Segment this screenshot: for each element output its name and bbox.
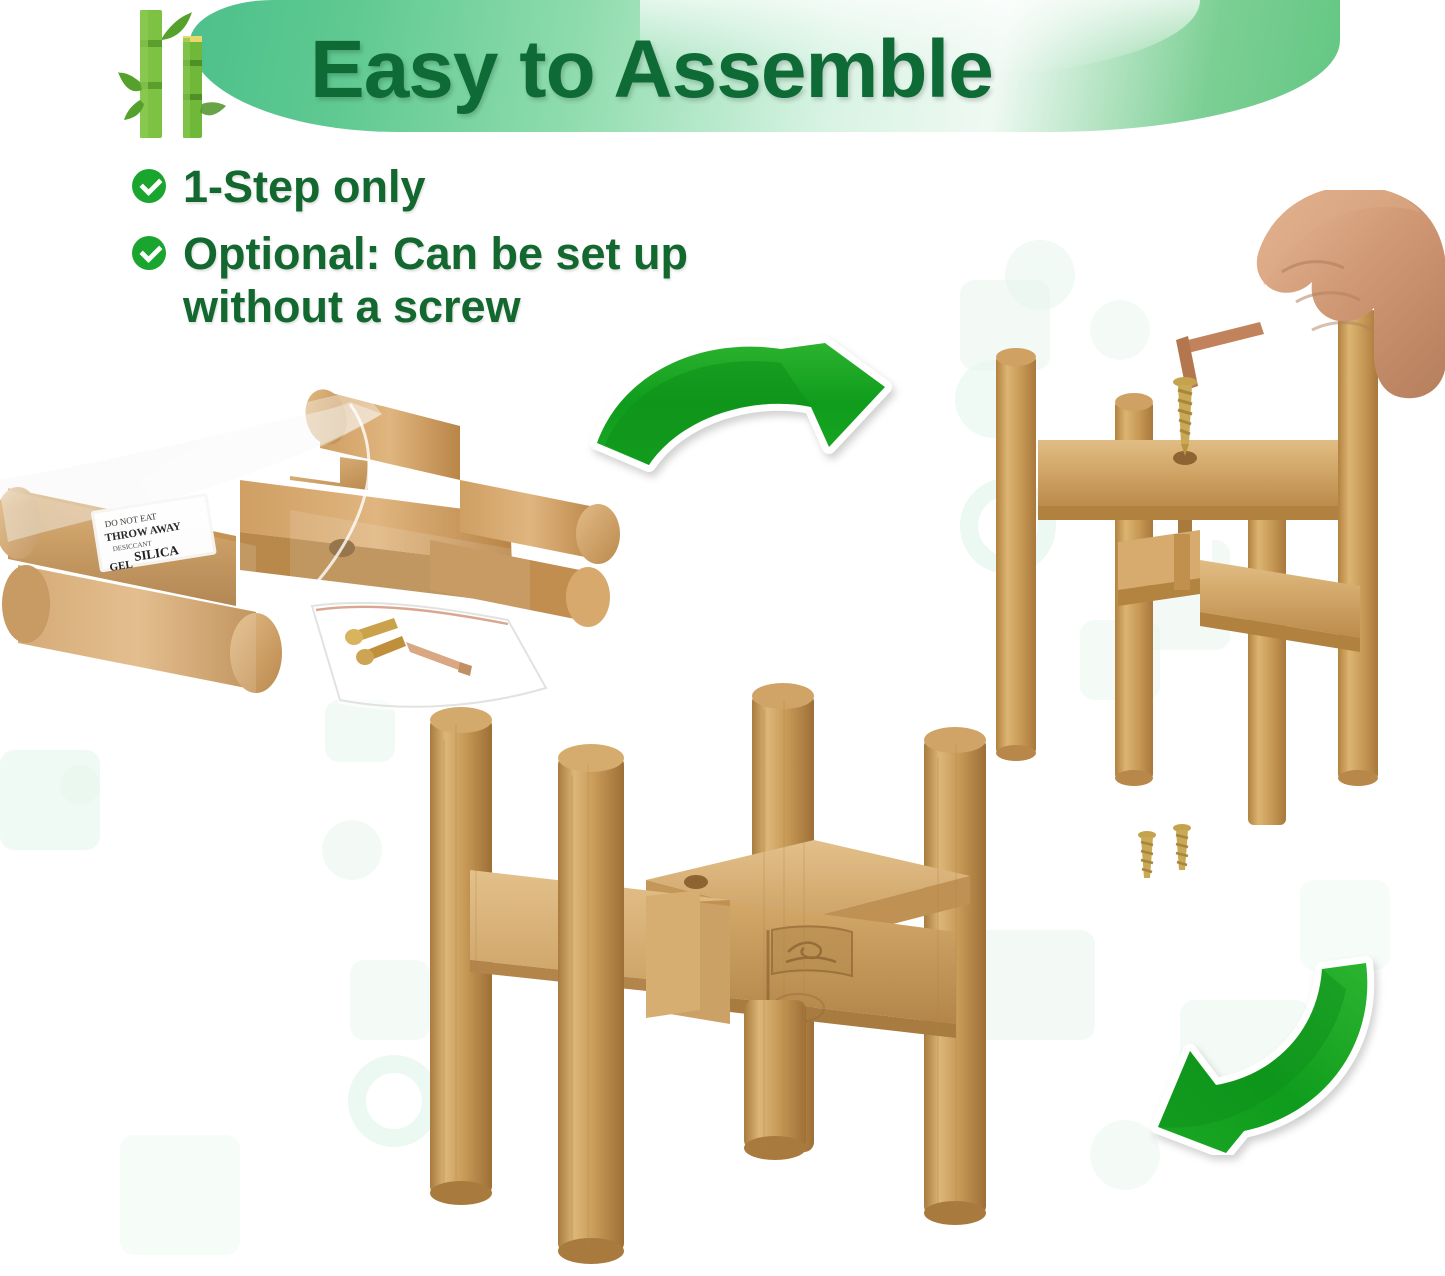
- feature-label: 1-Step only: [183, 160, 426, 213]
- arrow-to-assembled-view: [1030, 955, 1380, 1155]
- check-circle-icon: [132, 169, 166, 203]
- bamboo-stalks-icon: [118, 8, 238, 143]
- list-item: 1-Step only: [132, 160, 892, 213]
- infographic-canvas: Easy to Assemble 1-Step only Optional: C…: [0, 0, 1445, 1276]
- check-circle-icon: [132, 236, 166, 270]
- feature-label: Optional: Can be set up without a screw: [183, 227, 688, 333]
- bg-square-decor: [120, 1135, 240, 1255]
- assembled-plant-stand-photo: [400, 680, 1030, 1276]
- packaged-plant-stand-photo: DO NOT EAT THROW AWAY DESICCANT SILICA G…: [0, 360, 630, 720]
- list-item: Optional: Can be set up without a screw: [132, 227, 892, 333]
- exploded-assembly-photo: [960, 190, 1445, 880]
- bg-square-decor: [60, 765, 100, 805]
- feature-list: 1-Step only Optional: Can be set up with…: [132, 160, 892, 347]
- bg-square-decor: [322, 820, 382, 880]
- page-title: Easy to Assemble: [310, 22, 1210, 118]
- arrow-to-exploded-view: [585, 325, 915, 515]
